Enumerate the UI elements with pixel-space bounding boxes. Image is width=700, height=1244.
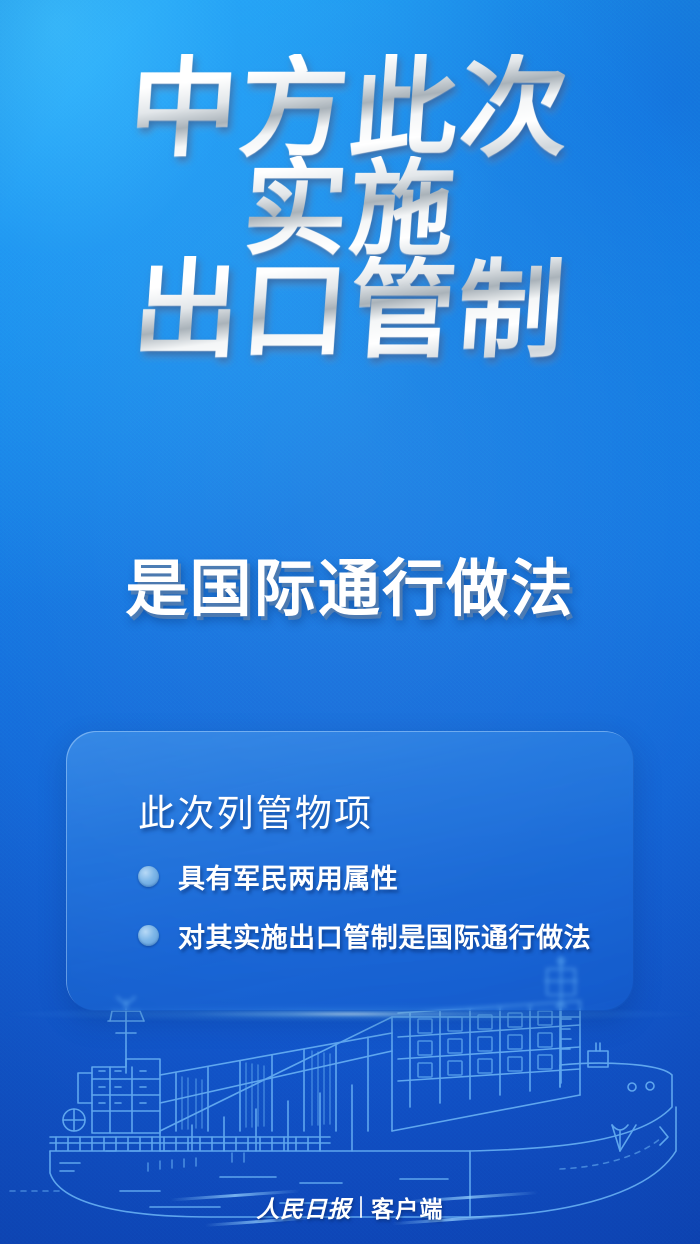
list-item-text: 对其实施出口管制是国际通行做法	[178, 916, 591, 955]
headline-line-3: 出口管制	[0, 256, 700, 364]
bullet-dot-icon	[138, 925, 159, 946]
subheadline: 是国际通行做法	[0, 538, 700, 628]
poster-root: 中方此次 实施 出口管制 是国际通行做法	[0, 0, 700, 1244]
card-title: 此次列管物项	[138, 783, 373, 837]
bullet-list: 具有军民两用属性 对其实施出口管制是国际通行做法	[138, 857, 600, 975]
brand-logo-text: 人民日报	[256, 1190, 351, 1224]
info-card: 此次列管物项 具有军民两用属性 对其实施出口管制是国际通行做法	[66, 731, 634, 1011]
list-item-text: 具有军民两用属性	[178, 857, 398, 896]
list-item-strong: 军民两用属性	[233, 864, 398, 894]
bullet-dot-icon	[138, 866, 159, 887]
footer-branding: 人民日报 客户端	[0, 1184, 700, 1230]
list-item: 具有军民两用属性	[138, 857, 600, 896]
brand-separator	[360, 1196, 362, 1218]
list-item-strong: 国际通行做法	[426, 923, 591, 953]
brand-app-name: 客户端	[371, 1190, 443, 1224]
list-item-lead: 对其实施出口管制是	[178, 923, 426, 953]
list-item-lead: 具有	[178, 864, 233, 894]
headline-block: 中方此次 实施 出口管制	[0, 54, 700, 364]
list-item: 对其实施出口管制是国际通行做法	[138, 916, 600, 955]
